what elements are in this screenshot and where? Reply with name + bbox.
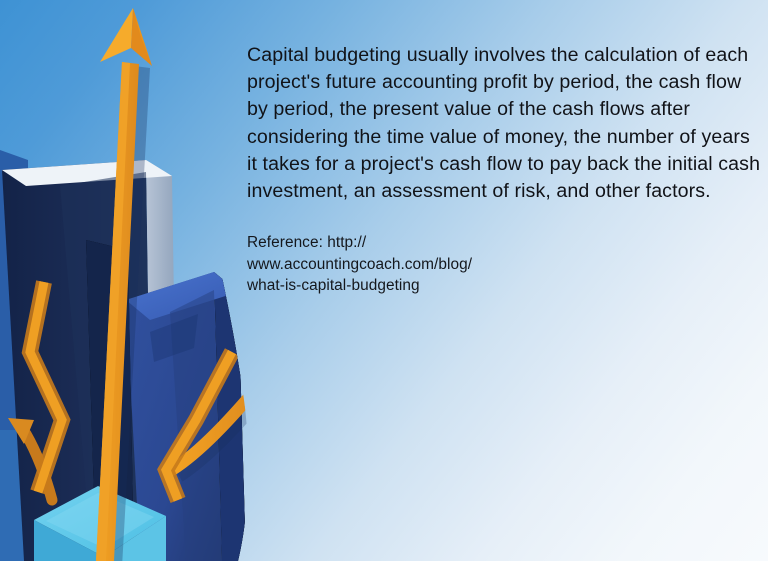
text-block: Capital budgeting usually involves the c…: [247, 42, 763, 296]
reference-citation: Reference: http:// www.accountingcoach.c…: [247, 205, 763, 296]
slide-canvas: Capital budgeting usually involves the c…: [0, 0, 768, 561]
body-paragraph: Capital budgeting usually involves the c…: [247, 42, 763, 205]
